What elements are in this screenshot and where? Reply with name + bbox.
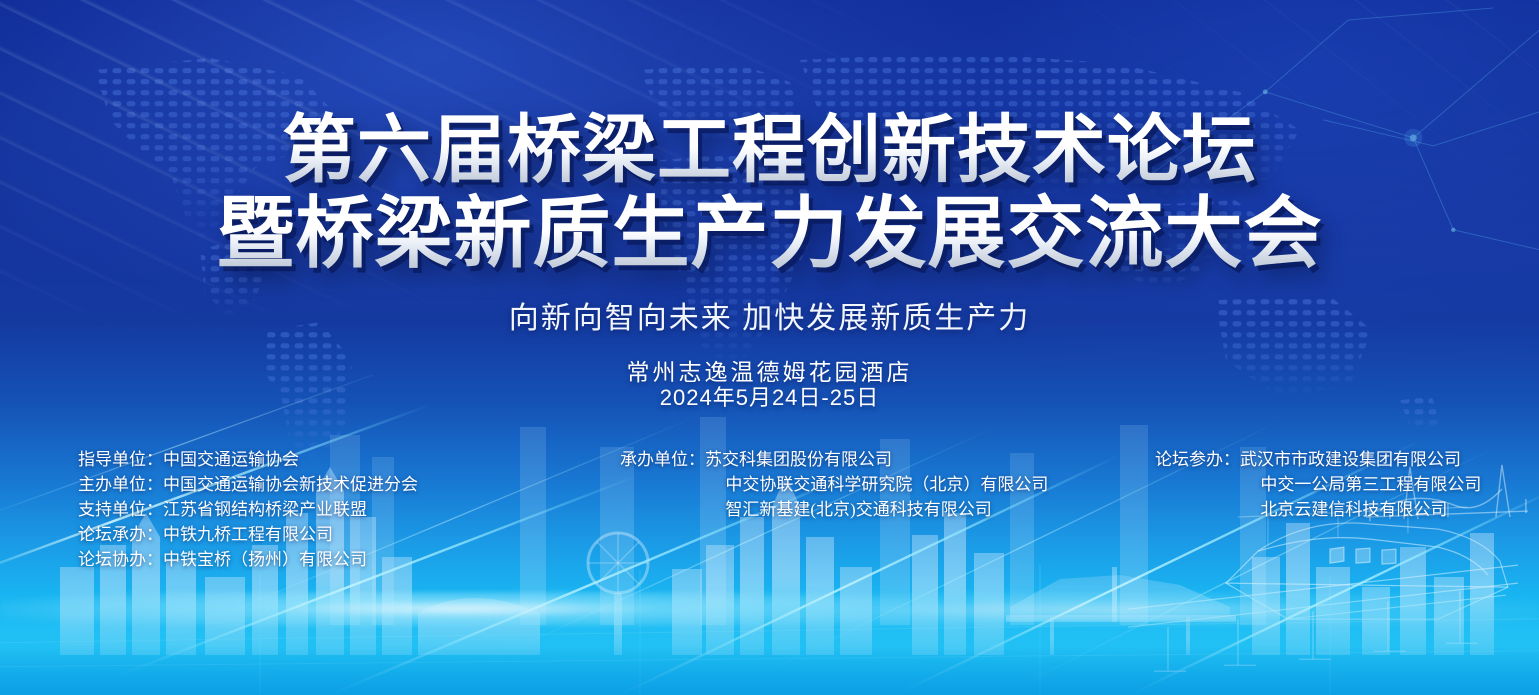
organizer-label: 主办单位：	[78, 472, 163, 497]
organizer-value: 苏交科集团股份有限公司	[705, 450, 892, 469]
organizer-row: 北京云建信科技有限公司	[1155, 497, 1481, 522]
banner-content: 第六届桥梁工程创新技术论坛 暨桥梁新质生产力发展交流大会 向新向智向未来 加快发…	[0, 0, 1539, 695]
organizer-label: 论坛承办：	[78, 522, 163, 547]
organizer-row: 论坛参办：武汉市市政建设集团有限公司	[1155, 447, 1481, 472]
organizer-label: 论坛参办：	[1155, 447, 1240, 472]
organizers-left-column: 指导单位：中国交通运输协会 主办单位：中国交通运输协会新技术促进分会 支持单位：…	[78, 447, 418, 572]
organizer-row: 支持单位：江苏省钢结构桥梁产业联盟	[78, 497, 418, 522]
organizer-row: 主办单位：中国交通运输协会新技术促进分会	[78, 472, 418, 497]
organizers-middle-column: 承办单位：苏交科集团股份有限公司 中交协联交通科学研究院（北京）有限公司 智汇新…	[620, 447, 1048, 522]
organizer-value: 中国交通运输协会新技术促进分会	[163, 475, 418, 494]
event-dates: 2024年5月24日-25日	[0, 380, 1539, 412]
organizers-right-column: 论坛参办：武汉市市政建设集团有限公司 中交一公局第三工程有限公司 北京云建信科技…	[1155, 447, 1481, 522]
organizer-label: 承办单位：	[620, 447, 705, 472]
organizer-value: 智汇新基建(北京)交通科技有限公司	[725, 500, 991, 519]
organizer-label: 指导单位：	[78, 447, 163, 472]
organizer-value: 中国交通运输协会	[163, 450, 299, 469]
organizer-row: 论坛承办：中铁九桥工程有限公司	[78, 522, 418, 547]
organizer-value: 中交一公局第三工程有限公司	[1260, 475, 1481, 494]
title-line-1: 第六届桥梁工程创新技术论坛	[0, 108, 1539, 192]
main-title: 第六届桥梁工程创新技术论坛 暨桥梁新质生产力发展交流大会	[0, 108, 1539, 276]
organizer-row: 承办单位：苏交科集团股份有限公司	[620, 447, 1048, 472]
organizer-value: 北京云建信科技有限公司	[1260, 500, 1447, 519]
organizer-label: 支持单位：	[78, 497, 163, 522]
organizer-value: 中交协联交通科学研究院（北京）有限公司	[725, 475, 1048, 494]
organizer-value: 江苏省钢结构桥梁产业联盟	[163, 500, 367, 519]
organizer-row: 智汇新基建(北京)交通科技有限公司	[620, 497, 1048, 522]
organizer-row: 论坛协办：中铁宝桥（扬州）有限公司	[78, 547, 418, 572]
conference-banner: 第六届桥梁工程创新技术论坛 暨桥梁新质生产力发展交流大会 向新向智向未来 加快发…	[0, 0, 1539, 695]
title-line-2: 暨桥梁新质生产力发展交流大会	[0, 192, 1539, 276]
subtitle: 向新向智向未来 加快发展新质生产力	[0, 293, 1539, 337]
organizer-label: 论坛协办：	[78, 547, 163, 572]
organizer-value: 中铁九桥工程有限公司	[163, 525, 333, 544]
organizer-value: 中铁宝桥（扬州）有限公司	[163, 550, 367, 569]
organizer-value: 武汉市市政建设集团有限公司	[1240, 450, 1461, 469]
organizer-row: 中交一公局第三工程有限公司	[1155, 472, 1481, 497]
organizer-row: 中交协联交通科学研究院（北京）有限公司	[620, 472, 1048, 497]
organizer-row: 指导单位：中国交通运输协会	[78, 447, 418, 472]
